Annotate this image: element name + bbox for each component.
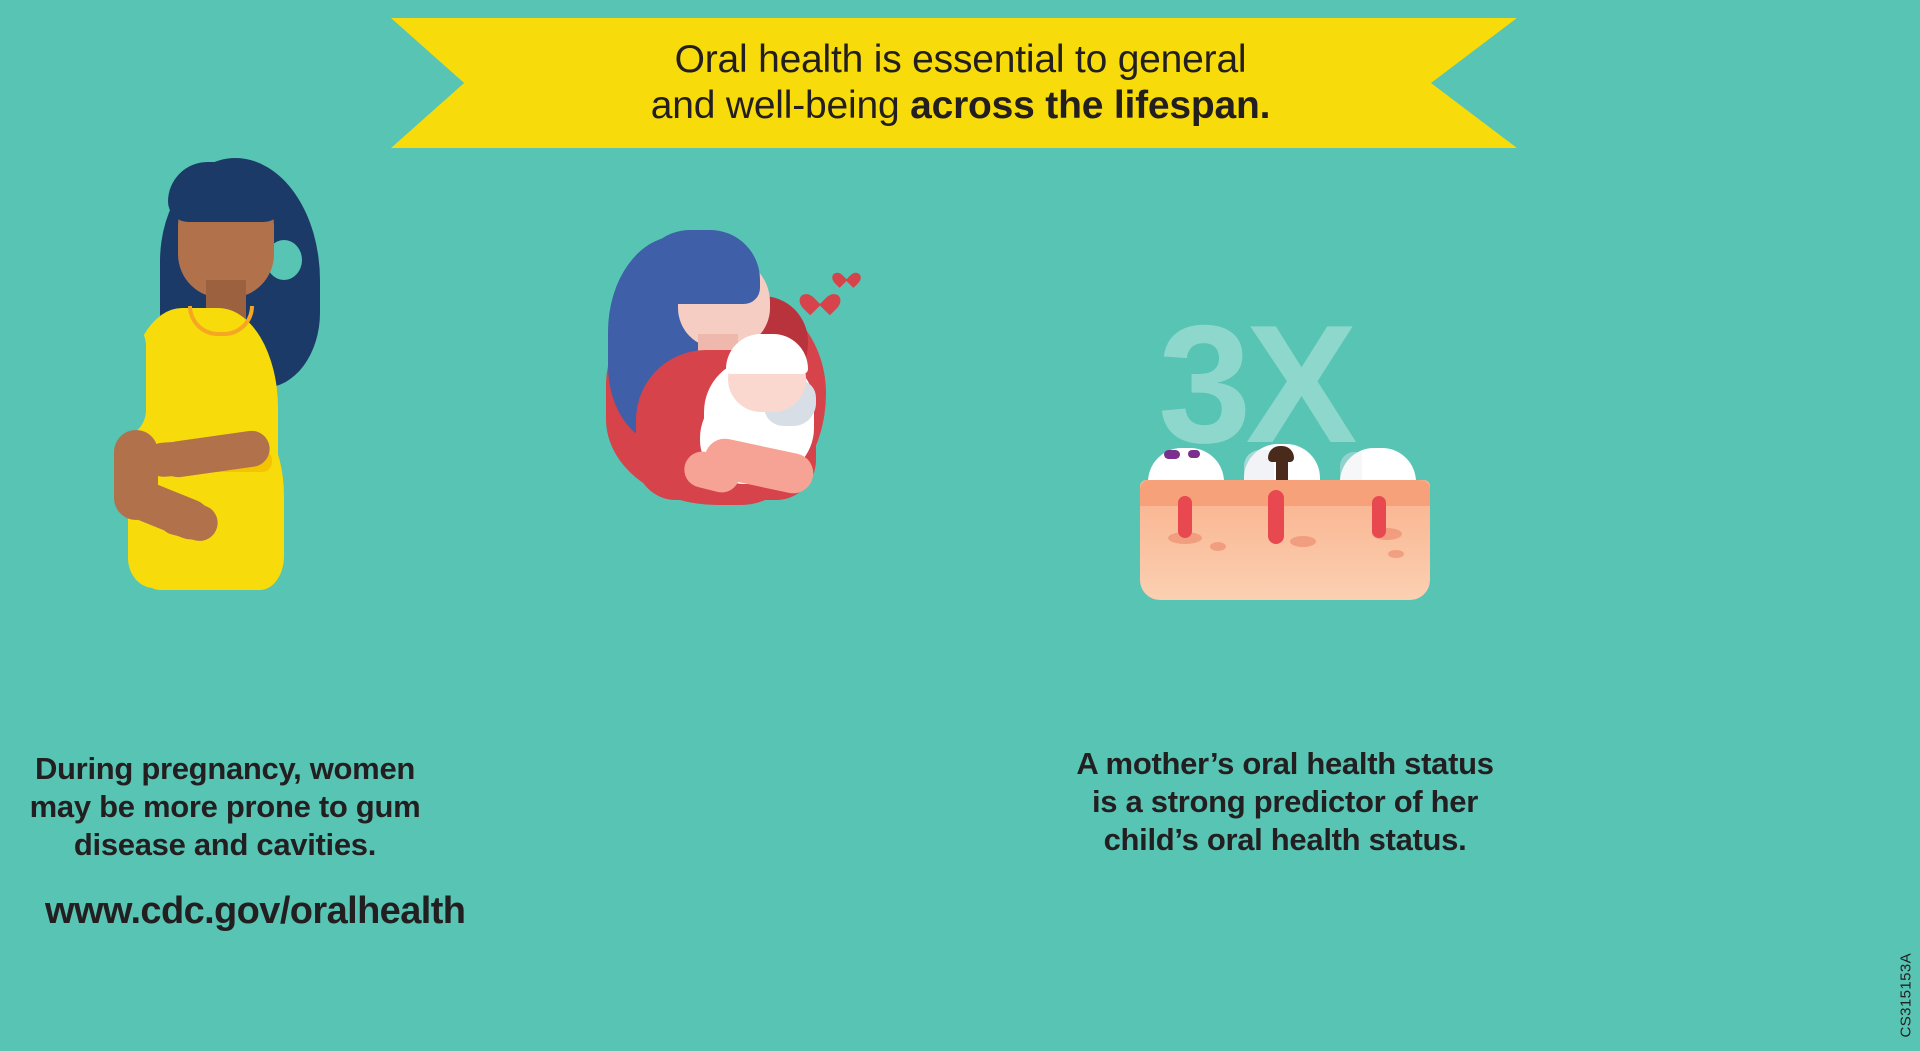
panel-pregnancy-caption: During pregnancy, women may be more pron…: [20, 750, 430, 863]
tooth-left-stain: [1164, 450, 1180, 459]
inflamed-gum-left: [1178, 496, 1192, 538]
watermark-3x: 3X: [1158, 300, 1352, 468]
banner-right-notch: [1431, 18, 1517, 148]
mother-bangs-shape: [672, 248, 746, 292]
pregnant-woman-illustration: [10, 150, 480, 450]
heart-small-icon: [838, 270, 856, 287]
headline-text: Oral health is essential to general and …: [615, 37, 1292, 128]
panel-mother-child: A mother’s oral health status is a stron…: [560, 230, 980, 520]
infographic-canvas: Oral health is essential to general and …: [0, 0, 1920, 959]
cs-number-label: CS315153A: [1897, 953, 1914, 1038]
headline-line-2-plain: and well-being: [651, 84, 910, 127]
gum-texture-5: [1388, 550, 1404, 558]
headline-line-1: Oral health is essential to general: [675, 38, 1247, 81]
tooth-left-stain-2: [1188, 450, 1200, 458]
gum-texture-3: [1290, 536, 1316, 547]
inflamed-gum-right: [1372, 496, 1386, 538]
gum-texture-2: [1210, 542, 1226, 551]
mother-holding-baby-illustration: [580, 230, 910, 520]
inflamed-gum-middle: [1268, 490, 1284, 544]
hair-front-shape: [168, 162, 284, 222]
panel-pregnancy: During pregnancy, women may be more pron…: [10, 150, 480, 450]
headline-line-2-bold: across the lifespan.: [910, 84, 1270, 127]
cdc-url-link[interactable]: www.cdc.gov/oralhealth: [45, 890, 465, 933]
heart-icon: [808, 290, 834, 314]
dress-arm-cutout: [118, 318, 146, 438]
panel-cavities-3x: 3X: [1030, 300, 1540, 590]
finger-1: [142, 450, 168, 461]
finger-2: [140, 462, 164, 472]
panel-mother-child-caption: A mother’s oral health status is a stron…: [1060, 745, 1510, 858]
headline-banner: Oral health is essential to general and …: [391, 18, 1516, 148]
three-teeth-with-gums-illustration: 3X: [1140, 300, 1470, 590]
